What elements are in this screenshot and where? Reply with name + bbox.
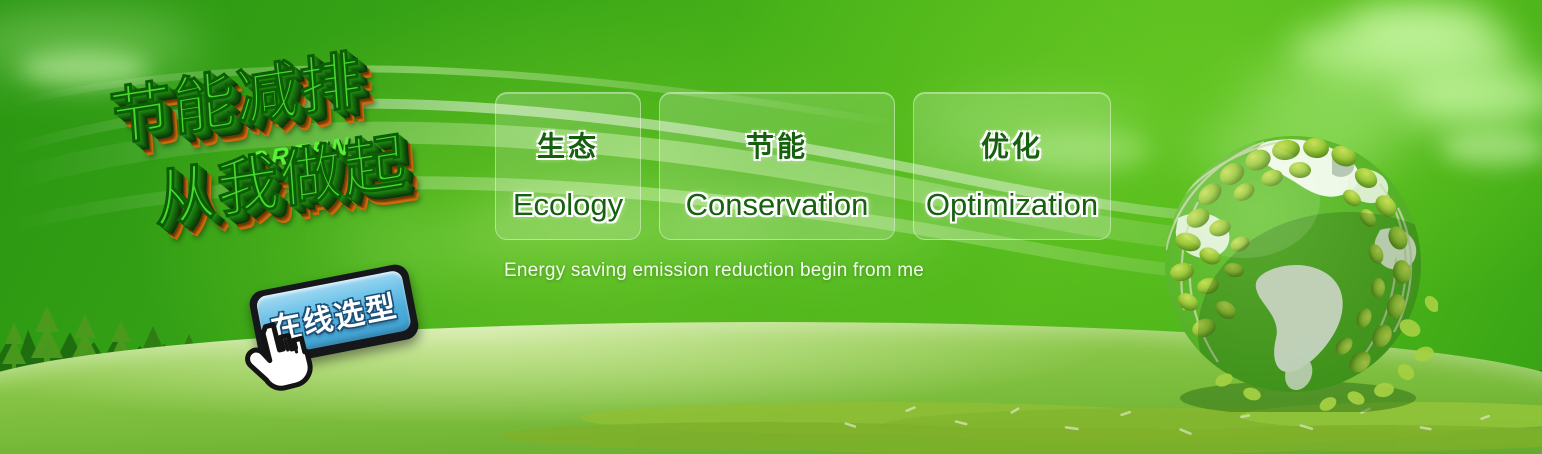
feature-card-ecology[interactable]: 生态 Ecology xyxy=(495,92,641,240)
feature-card-conservation[interactable]: 节能 Conservation xyxy=(659,92,895,240)
title-3d-artwork: 节能减排 GREEN 从我做起 xyxy=(100,42,480,262)
card-en-label: Ecology xyxy=(513,187,623,223)
card-cn-label: 优化 xyxy=(981,125,1043,165)
tagline-text: Energy saving emission reduction begin f… xyxy=(504,260,924,282)
card-cn-label: 节能 xyxy=(746,125,808,165)
feature-card-optimization[interactable]: 优化 Optimization xyxy=(913,92,1111,240)
feature-card-list: 生态 Ecology 节能 Conservation 优化 Optimizati… xyxy=(495,92,1111,240)
card-en-label: Optimization xyxy=(926,187,1098,223)
card-cn-label: 生态 xyxy=(537,125,599,165)
pointing-hand-cursor-icon xyxy=(243,320,317,392)
card-en-label: Conservation xyxy=(686,187,869,223)
leafy-globe-icon xyxy=(1148,122,1438,412)
eco-promo-banner: 节能减排 GREEN 从我做起 在线选型 生态 Ecology 节能 Conse… xyxy=(0,0,1542,454)
